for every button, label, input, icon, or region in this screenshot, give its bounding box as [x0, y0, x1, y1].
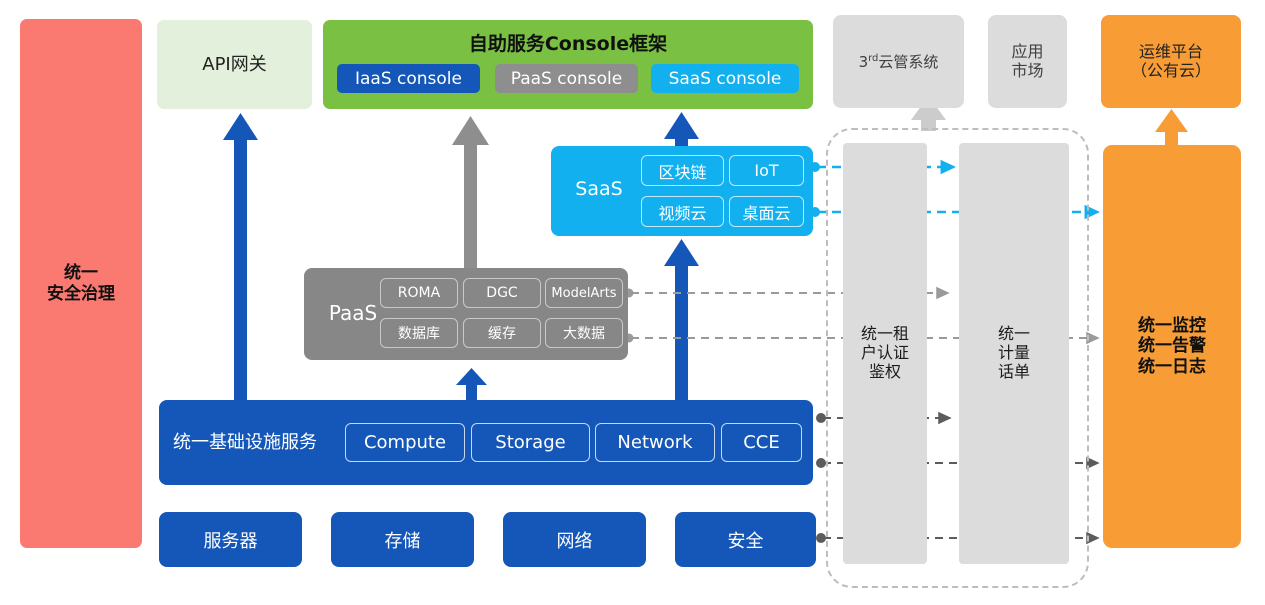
- paas-service-cache[interactable]: 缓存: [463, 318, 541, 348]
- unified-monitoring-column[interactable]: 统一监控 统一告警 统一日志: [1103, 145, 1241, 548]
- paas-service-bigdata[interactable]: 大数据: [545, 318, 623, 348]
- app-market-box[interactable]: 应用 市场: [988, 15, 1067, 108]
- paas-service-roma[interactable]: ROMA: [380, 278, 458, 308]
- arrow-infra-to-paas: [456, 368, 487, 401]
- paas-service-modelarts[interactable]: ModelArts: [545, 278, 623, 308]
- unified-billing-column[interactable]: 统一 计量 话单: [959, 143, 1069, 564]
- infrastructure-label: 统一基础设施服务: [173, 428, 317, 454]
- ops-platform-label: 运维平台 （公有云）: [1131, 43, 1211, 81]
- paas-layer-box[interactable]: PaaS ROMA DGC ModelArts 数据库 缓存 大数据: [304, 268, 628, 360]
- infra-service-storage[interactable]: Storage: [471, 423, 590, 462]
- resource-box-security[interactable]: 安全: [675, 512, 816, 567]
- api-gateway-box[interactable]: API网关: [157, 20, 312, 109]
- paas-service-database[interactable]: 数据库: [380, 318, 458, 348]
- architecture-diagram: 统一 安全治理 API网关 自助服务Console框架 IaaS console…: [0, 0, 1265, 605]
- paas-console-chip[interactable]: PaaS console: [495, 64, 638, 93]
- security-column-label: 统一 安全治理: [47, 263, 115, 303]
- console-frame-title: 自助服务Console框架: [323, 29, 813, 56]
- infra-service-cce[interactable]: CCE: [721, 423, 802, 462]
- ops-platform-box[interactable]: 运维平台 （公有云）: [1101, 15, 1241, 108]
- saas-console-chip[interactable]: SaaS console: [651, 64, 799, 93]
- ops-column-label: 统一监控 统一告警 统一日志: [1138, 316, 1206, 376]
- saas-layer-label: SaaS: [563, 178, 635, 200]
- arrow-ops-col-to-ops-platform: [1155, 109, 1188, 145]
- auth-column-label: 统一租 户认证 鉴权: [861, 325, 909, 382]
- arrow-saas-to-console: [664, 112, 699, 146]
- billing-column-label: 统一 计量 话单: [998, 325, 1030, 382]
- saas-service-iot[interactable]: IoT: [729, 155, 804, 186]
- saas-service-video-cloud[interactable]: 视频云: [641, 196, 724, 227]
- arrow-infra-to-saas: [664, 239, 699, 401]
- third-cloud-label: 3rd云管系统: [859, 51, 939, 72]
- paas-service-dgc[interactable]: DGC: [463, 278, 541, 308]
- resource-box-storage[interactable]: 存储: [331, 512, 474, 567]
- resource-box-network[interactable]: 网络: [503, 512, 646, 567]
- api-gateway-label: API网关: [202, 54, 266, 75]
- self-service-console-frame[interactable]: 自助服务Console框架 IaaS console PaaS console …: [323, 20, 813, 109]
- third-party-cloud-management-box[interactable]: 3rd云管系统: [833, 15, 964, 108]
- app-market-label: 应用 市场: [1011, 43, 1043, 81]
- unified-infrastructure-service-bar[interactable]: 统一基础设施服务 Compute Storage Network CCE: [159, 400, 813, 485]
- infra-service-network[interactable]: Network: [595, 423, 715, 462]
- resource-box-server[interactable]: 服务器: [159, 512, 302, 567]
- arrow-paas-to-console: [452, 116, 489, 269]
- unified-security-governance-column[interactable]: 统一 安全治理: [20, 19, 142, 548]
- iaas-console-chip[interactable]: IaaS console: [337, 64, 480, 93]
- saas-service-desktop-cloud[interactable]: 桌面云: [729, 196, 804, 227]
- infra-service-compute[interactable]: Compute: [345, 423, 465, 462]
- unified-tenant-auth-column[interactable]: 统一租 户认证 鉴权: [843, 143, 927, 564]
- saas-layer-box[interactable]: SaaS 区块链 IoT 视频云 桌面云: [551, 146, 813, 236]
- saas-service-blockchain[interactable]: 区块链: [641, 155, 724, 186]
- arrow-infra-to-api-gateway: [223, 113, 258, 400]
